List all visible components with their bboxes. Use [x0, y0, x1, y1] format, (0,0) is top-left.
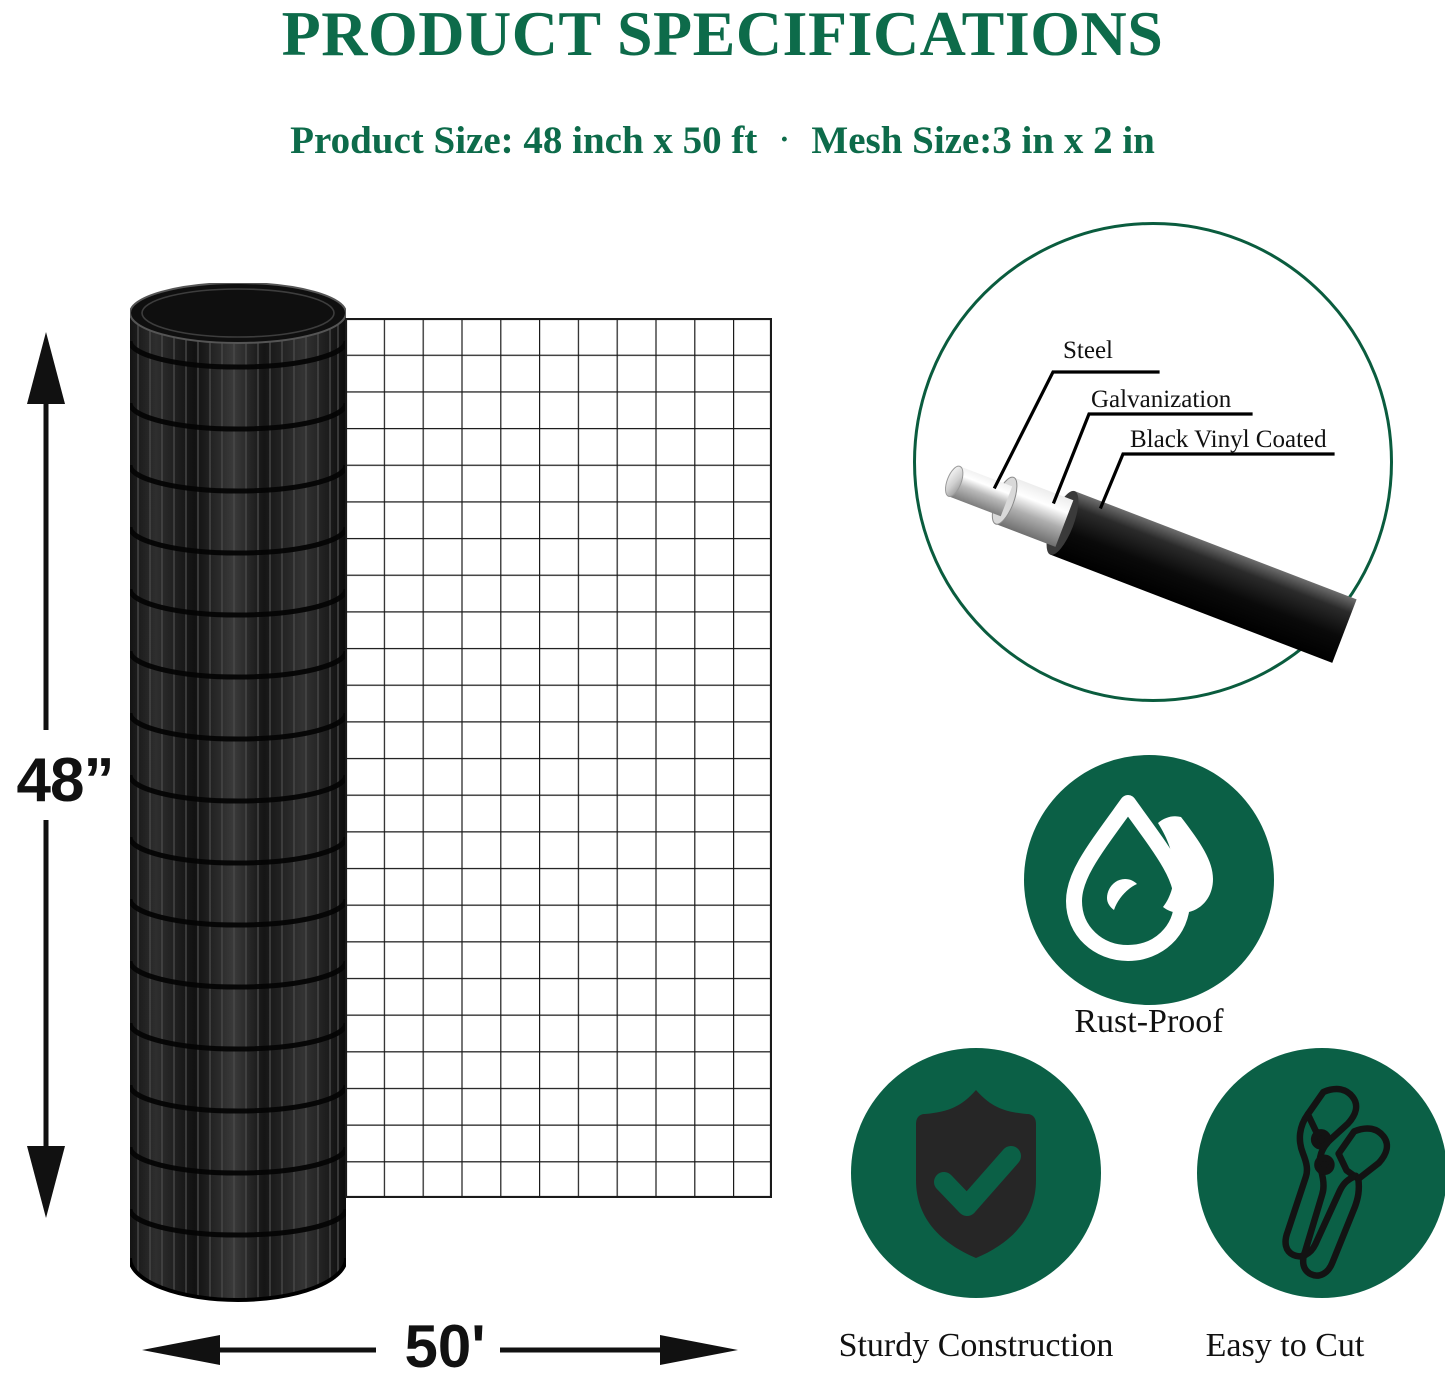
feature-label-sturdy-construction: Sturdy Construction [796, 1327, 1156, 1365]
shield-check-icon [851, 1048, 1101, 1298]
subtitle-row: Product Size: 48 inch x 50 ft·Mesh Size:… [0, 118, 1445, 163]
product-specifications-infographic: PRODUCT SPECIFICATIONS Product Size: 48 … [0, 0, 1445, 1381]
width-dimension-label: 50' [390, 1312, 500, 1381]
wire-label-steel: Steel [1063, 337, 1113, 365]
feature-label-rust-proof: Rust-Proof [969, 1003, 1329, 1041]
wire-mesh-roll-image [130, 283, 346, 1303]
wire-cutaway-diagram [913, 222, 1393, 702]
pliers-icon [1197, 1048, 1445, 1298]
subtitle-separator: · [779, 123, 789, 157]
wire-mesh-panel [345, 318, 772, 1198]
wire-label-galvanization: Galvanization [1091, 386, 1231, 414]
feature-label-easy-to-cut: Easy to Cut [1130, 1327, 1440, 1365]
page-title: PRODUCT SPECIFICATIONS [0, 2, 1445, 66]
water-drop-icon [1024, 755, 1274, 1005]
product-size-text: Product Size: 48 inch x 50 ft [290, 119, 757, 162]
height-dimension-label: 48” [0, 745, 130, 816]
wire-label-black-vinyl-coated: Black Vinyl Coated [1130, 426, 1327, 454]
mesh-size-text: Mesh Size:3 in x 2 in [811, 119, 1154, 162]
